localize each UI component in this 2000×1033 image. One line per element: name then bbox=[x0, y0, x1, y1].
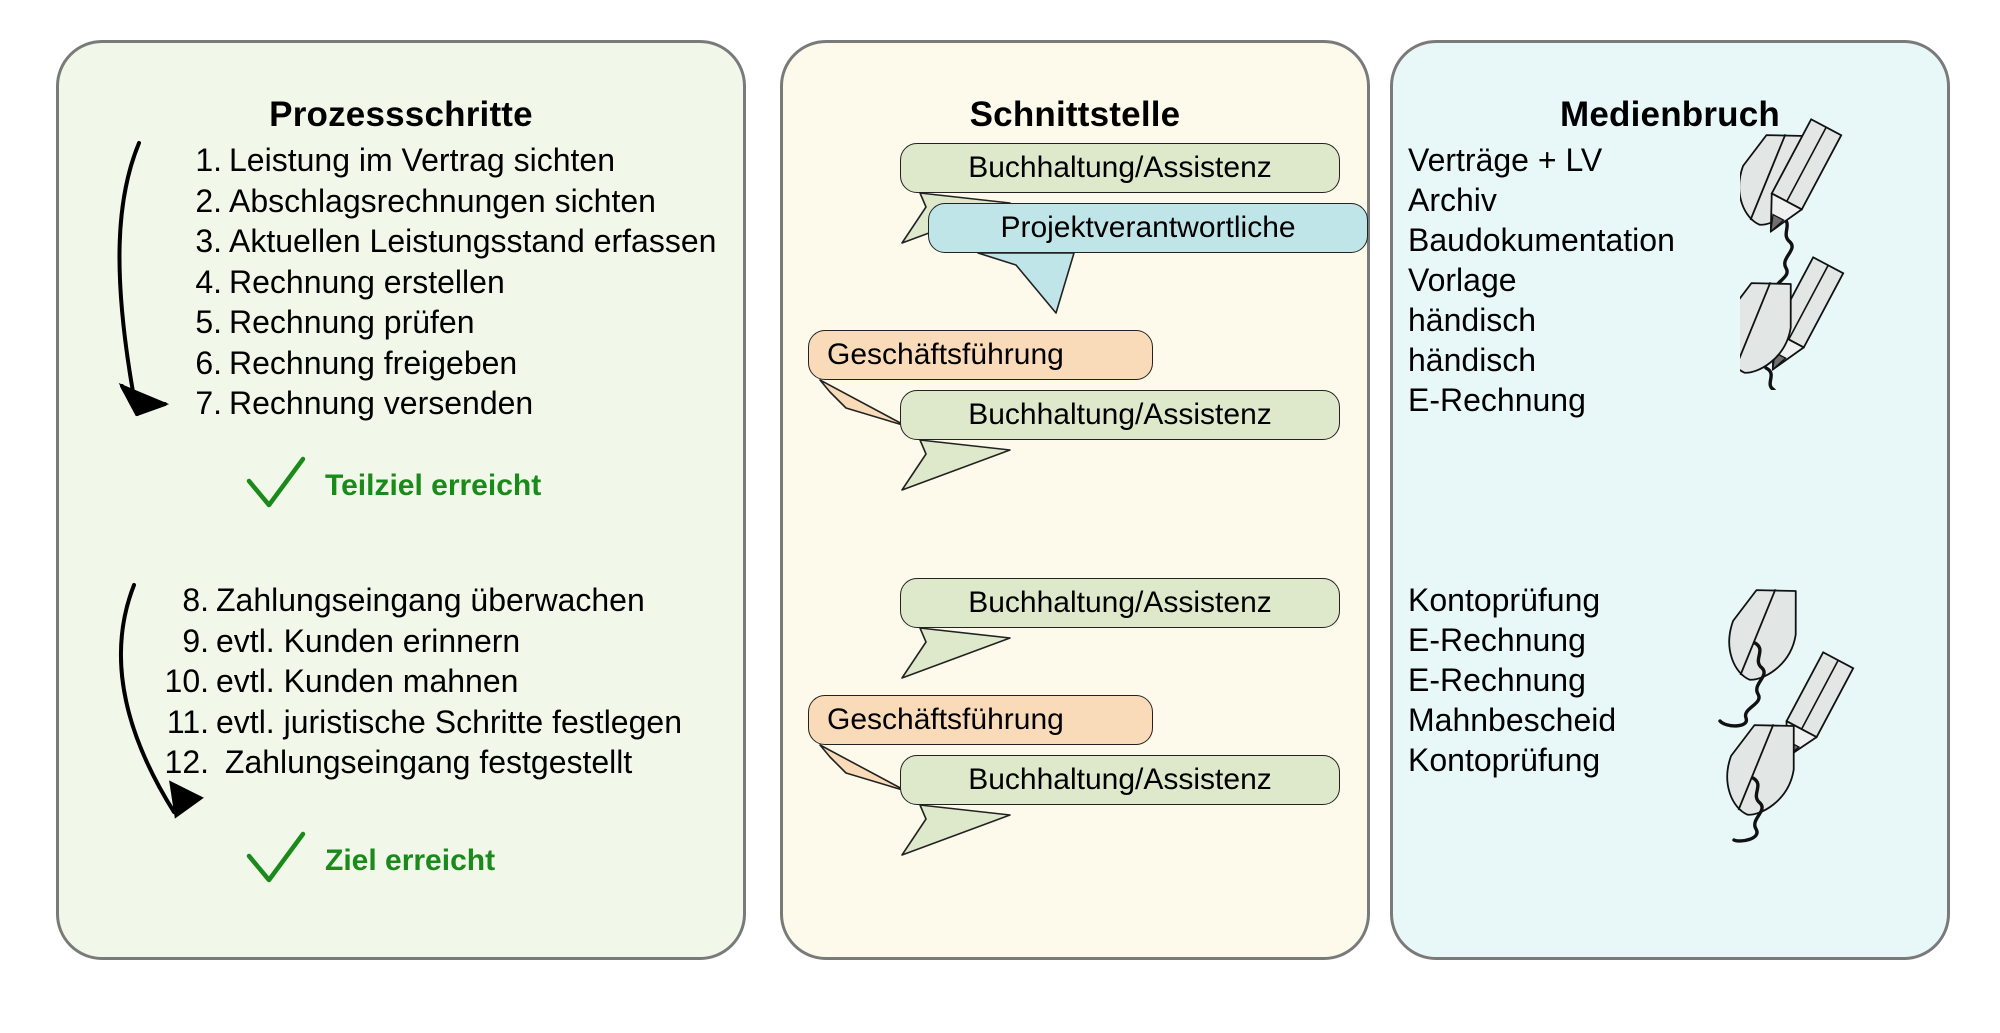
step-label: evtl. Kunden mahnen bbox=[216, 663, 518, 699]
list-item: 11.evtl. juristische Schritte festlegen bbox=[155, 702, 682, 743]
step-label: Rechnung erstellen bbox=[229, 264, 505, 300]
media-icons-group-a bbox=[1740, 90, 1960, 390]
step-number: 1. bbox=[168, 140, 222, 181]
goal-final-label: Ziel erreicht bbox=[325, 844, 495, 878]
list-item: 5.Rechnung prüfen bbox=[168, 302, 716, 343]
list-item: E-Rechnung bbox=[1408, 380, 1675, 420]
step-label: Rechnung prüfen bbox=[229, 304, 475, 340]
step-label: Aktuellen Leistungsstand erfassen bbox=[229, 223, 716, 259]
goal-partial: Teilziel erreicht bbox=[245, 455, 541, 516]
bubble-body[interactable]: Geschäftsführung bbox=[808, 695, 1153, 745]
bubble-body[interactable]: Buchhaltung/Assistenz bbox=[900, 390, 1340, 440]
bubble-label: Buchhaltung/Assistenz bbox=[968, 398, 1272, 432]
list-item: 10.evtl. Kunden mahnen bbox=[155, 661, 682, 702]
ink-squiggle-icon bbox=[1766, 368, 1774, 390]
step-number: 11. bbox=[155, 702, 209, 743]
step-label: Zahlungseingang festgestellt bbox=[216, 744, 632, 780]
process-steps-group-a: 1.Leistung im Vertrag sichten 2.Abschlag… bbox=[168, 140, 716, 424]
step-number: 3. bbox=[168, 221, 222, 262]
step-label: evtl. Kunden erinnern bbox=[216, 623, 520, 659]
process-steps-group-b: 8.Zahlungseingang überwachen 9.evtl. Kun… bbox=[155, 580, 682, 783]
checkmark-icon bbox=[245, 455, 307, 516]
step-label: evtl. juristische Schritte festlegen bbox=[216, 704, 682, 740]
goal-final: Ziel erreicht bbox=[245, 830, 495, 891]
step-number: 5. bbox=[168, 302, 222, 343]
list-item: Verträge + LV bbox=[1408, 140, 1675, 180]
step-number: 10. bbox=[155, 661, 209, 702]
goal-partial-label: Teilziel erreicht bbox=[325, 469, 541, 503]
interface-bubble-accounting-1[interactable]: Buchhaltung/Assistenz bbox=[900, 143, 1340, 193]
list-item: 3.Aktuellen Leistungsstand erfassen bbox=[168, 221, 716, 262]
interface-bubble-accounting-4[interactable]: Buchhaltung/Assistenz bbox=[900, 755, 1340, 805]
step-number: 2. bbox=[168, 181, 222, 222]
list-item: händisch bbox=[1408, 340, 1675, 380]
bubble-label: Buchhaltung/Assistenz bbox=[968, 586, 1272, 620]
bubble-tail bbox=[900, 803, 1060, 863]
step-label: Rechnung versenden bbox=[229, 385, 533, 421]
bubble-tail bbox=[900, 626, 1060, 686]
bubble-label: Buchhaltung/Assistenz bbox=[968, 763, 1272, 797]
bubble-body[interactable]: Geschäftsführung bbox=[808, 330, 1153, 380]
bubble-label: Geschäftsführung bbox=[827, 338, 1064, 372]
interface-bubble-accounting-2[interactable]: Buchhaltung/Assistenz bbox=[900, 390, 1340, 440]
list-item: händisch bbox=[1408, 300, 1675, 340]
step-number: 12. bbox=[155, 742, 209, 783]
bubble-body[interactable]: Buchhaltung/Assistenz bbox=[900, 143, 1340, 193]
bubble-body[interactable]: Buchhaltung/Assistenz bbox=[900, 578, 1340, 628]
list-item: Kontoprüfung bbox=[1408, 580, 1616, 620]
list-item: Baudokumentation bbox=[1408, 220, 1675, 260]
list-item: 7.Rechnung versenden bbox=[168, 383, 716, 424]
step-number: 9. bbox=[155, 621, 209, 662]
step-number: 7. bbox=[168, 383, 222, 424]
step-label: Leistung im Vertrag sichten bbox=[229, 142, 615, 178]
step-label: Zahlungseingang überwachen bbox=[216, 582, 645, 618]
interface-bubble-management-1[interactable]: Geschäftsführung bbox=[808, 330, 1153, 380]
bubble-body[interactable]: Buchhaltung/Assistenz bbox=[900, 755, 1340, 805]
panel-title-schnittstelle: Schnittstelle bbox=[783, 95, 1367, 135]
list-item: 12. Zahlungseingang festgestellt bbox=[155, 742, 682, 783]
list-item: 2.Abschlagsrechnungen sichten bbox=[168, 181, 716, 222]
list-item: 9.evtl. Kunden erinnern bbox=[155, 621, 682, 662]
media-icons-group-b bbox=[1700, 550, 1960, 850]
panel-title-prozessschritte: Prozessschritte bbox=[59, 95, 743, 135]
bubble-label: Geschäftsführung bbox=[827, 703, 1064, 737]
step-number: 8. bbox=[155, 580, 209, 621]
bubble-label: Projektverantwortliche bbox=[1000, 211, 1295, 245]
process-diagram: Prozessschritte 1.Leistung im Vertrag si… bbox=[0, 0, 2000, 1033]
list-item: E-Rechnung bbox=[1408, 620, 1616, 660]
list-item: 8.Zahlungseingang überwachen bbox=[155, 580, 682, 621]
interface-bubble-accounting-3[interactable]: Buchhaltung/Assistenz bbox=[900, 578, 1340, 628]
interface-bubble-project-lead-1[interactable]: Projektverantwortliche bbox=[928, 203, 1368, 253]
media-break-list-group-a: Verträge + LV Archiv Baudokumentation Vo… bbox=[1408, 140, 1675, 420]
interface-bubble-management-2[interactable]: Geschäftsführung bbox=[808, 695, 1153, 745]
bubble-body[interactable]: Projektverantwortliche bbox=[928, 203, 1368, 253]
list-item: Vorlage bbox=[1408, 260, 1675, 300]
list-item: 1.Leistung im Vertrag sichten bbox=[168, 140, 716, 181]
list-item: Kontoprüfung bbox=[1408, 740, 1616, 780]
media-break-list-group-b: Kontoprüfung E-Rechnung E-Rechnung Mahnb… bbox=[1408, 580, 1616, 780]
step-number: 4. bbox=[168, 262, 222, 303]
list-item: Mahnbescheid bbox=[1408, 700, 1616, 740]
list-item: Archiv bbox=[1408, 180, 1675, 220]
list-item: E-Rechnung bbox=[1408, 660, 1616, 700]
step-label: Abschlagsrechnungen sichten bbox=[229, 183, 656, 219]
step-label: Rechnung freigeben bbox=[229, 345, 517, 381]
list-item: 6.Rechnung freigeben bbox=[168, 343, 716, 384]
step-number: 6. bbox=[168, 343, 222, 384]
checkmark-icon bbox=[245, 830, 307, 891]
bubble-label: Buchhaltung/Assistenz bbox=[968, 151, 1272, 185]
list-item: 4.Rechnung erstellen bbox=[168, 262, 716, 303]
bubble-tail bbox=[900, 438, 1060, 498]
bubble-tail bbox=[956, 251, 1176, 321]
